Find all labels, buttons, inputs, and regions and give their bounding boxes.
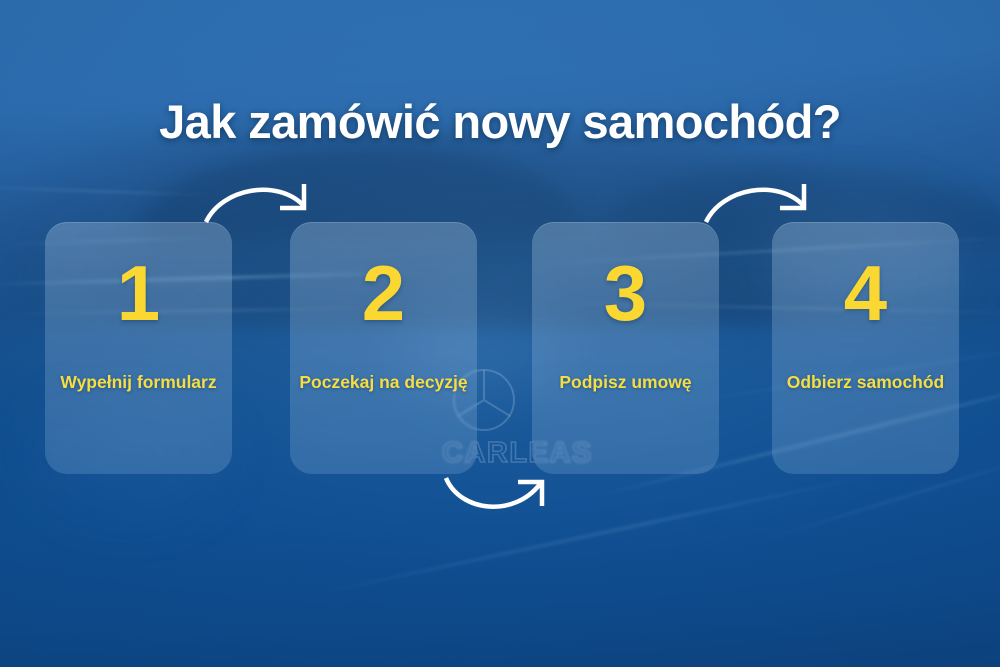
infographic-canvas: CARLEASE Jak zamówić nowy samochód? 1 Wy…	[0, 0, 1000, 667]
steps-container: 1 Wypełnij formularz 2 Poczekaj na decyz…	[0, 0, 1000, 667]
step-label-3: Podpisz umowę	[536, 370, 716, 395]
step-number-3: 3	[604, 254, 647, 332]
step-card-1[interactable]: 1 Wypełnij formularz	[45, 222, 232, 474]
step-label-2: Poczekaj na decyzję	[294, 370, 474, 395]
step-number-2: 2	[362, 254, 405, 332]
step-label-4: Odbierz samochód	[776, 370, 956, 395]
step-card-2[interactable]: 2 Poczekaj na decyzję	[290, 222, 477, 474]
step-number-1: 1	[117, 254, 160, 332]
step-card-3[interactable]: 3 Podpisz umowę	[532, 222, 719, 474]
step-card-4[interactable]: 4 Odbierz samochód	[772, 222, 959, 474]
step-number-4: 4	[844, 254, 887, 332]
step-label-1: Wypełnij formularz	[49, 370, 229, 395]
